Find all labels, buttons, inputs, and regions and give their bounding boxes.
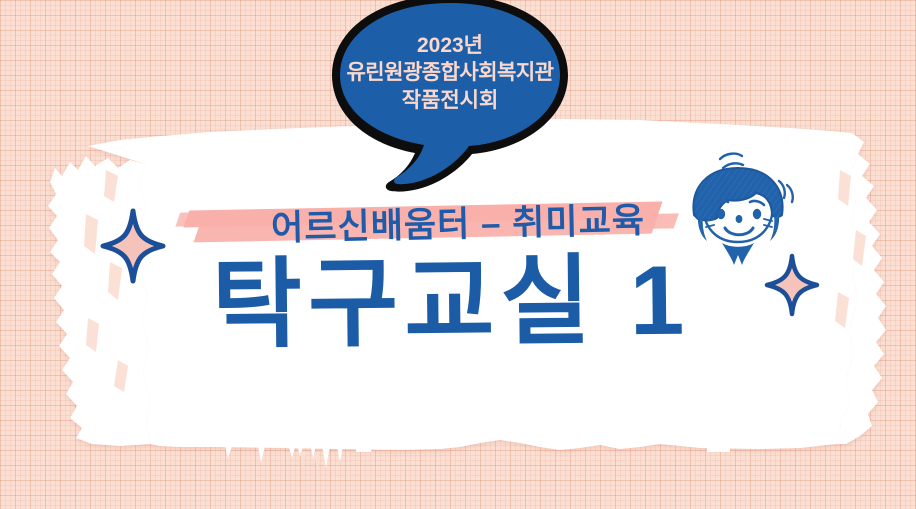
speech-bubble: 2023년 유린원광종합사회복지관 작품전시회 (325, 0, 575, 194)
character-eye-left (717, 209, 725, 219)
speech-bubble-shape (325, 0, 575, 194)
sparkle-star-left-icon (100, 208, 166, 289)
character-nose (736, 215, 743, 223)
poster-canvas: 어르신배움터 – 취미교육 탁구교실 1 2023년 유린원광종합사회복지관 작… (0, 0, 916, 509)
character-collar (722, 243, 754, 265)
character-eye-right (753, 209, 761, 219)
character-illustration (676, 143, 802, 279)
